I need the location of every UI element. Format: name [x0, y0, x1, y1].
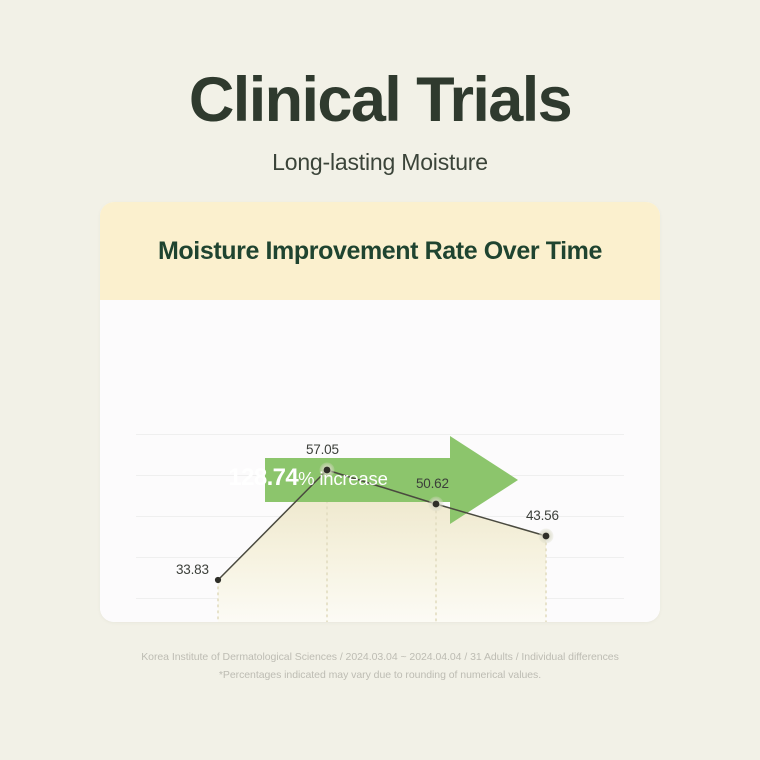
footnote-line-2: *Percentages indicated may vary due to r…: [0, 666, 760, 684]
footnote: Korea Institute of Dermatological Scienc…: [0, 648, 760, 684]
data-label-0: 33.83: [176, 562, 209, 577]
footnote-line-1: Korea Institute of Dermatological Scienc…: [0, 648, 760, 666]
data-label-1: 57.05: [306, 442, 339, 457]
data-label-2: 50.62: [416, 476, 449, 491]
data-label-3: 43.56: [526, 508, 559, 523]
poster-root: Clinical Trials Long-lasting Moisture Mo…: [0, 0, 760, 760]
chart-card: Moisture Improvement Rate Over Time: [100, 202, 660, 622]
chart-card-header: Moisture Improvement Rate Over Time: [100, 202, 660, 300]
page-title: Clinical Trials: [0, 66, 760, 134]
chart-card-body: 33.83 57.05 50.62 43.56 Before use After…: [100, 300, 660, 622]
chart-title: Moisture Improvement Rate Over Time: [158, 237, 602, 266]
page-subtitle: Long-lasting Moisture: [0, 149, 760, 176]
